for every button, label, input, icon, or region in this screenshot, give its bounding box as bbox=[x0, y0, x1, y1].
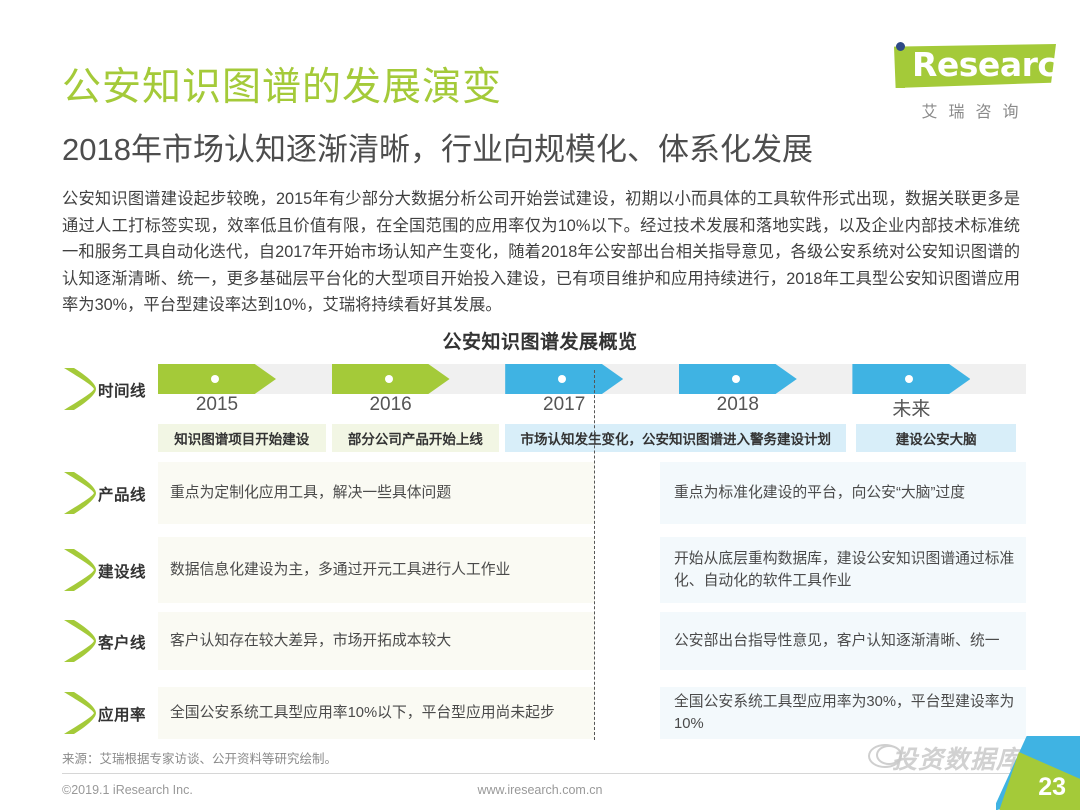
row-label-timeline: 时间线 bbox=[98, 379, 146, 401]
footer-divider bbox=[62, 773, 1018, 774]
row-cell-later-phase: 公安部出台指导性意见，客户认知逐渐清晰、统一 bbox=[660, 612, 1026, 670]
row-marker-chevron-icon bbox=[62, 547, 96, 593]
source-note: 来源：艾瑞根据专家访谈、公开资料等研究绘制。 bbox=[62, 748, 337, 767]
timeline-chevron[interactable] bbox=[852, 364, 970, 394]
logo-i-stem bbox=[896, 54, 905, 88]
timeline-year-label: 2016 bbox=[332, 394, 450, 420]
timeline-year-label: 未来 bbox=[852, 394, 970, 420]
body-paragraph: 公安知识图谱建设起步较晚，2015年有少部分大数据分析公司开始尝试建设，初期以小… bbox=[62, 186, 1020, 319]
timeline-marker-dot-icon bbox=[385, 375, 393, 383]
row-label-3: 客户线 bbox=[98, 631, 146, 653]
page-number: 23 bbox=[1038, 773, 1066, 802]
timeline-note: 市场认知发生变化，公安知识图谱进入警务建设计划 bbox=[505, 424, 846, 452]
page-subtitle: 2018年市场认知逐渐清晰，行业向规模化、体系化发展 bbox=[62, 124, 813, 169]
row-marker-chevron-icon bbox=[62, 690, 96, 736]
row-label-2: 建设线 bbox=[98, 560, 146, 582]
timeline-marker-dot-icon bbox=[905, 375, 913, 383]
timeline-note: 建设公安大脑 bbox=[856, 424, 1016, 452]
slide-page: Research 艾瑞咨询 公安知识图谱的发展演变 2018年市场认知逐渐清晰，… bbox=[0, 0, 1080, 810]
development-overview-chart: 时间线2015知识图谱项目开始建设2016部分公司产品开始上线2017市场认知发… bbox=[62, 362, 1026, 740]
logo-brand-cn: 艾瑞咨询 bbox=[853, 98, 1058, 122]
table-row: 全国公安系统工具型应用率10%以下，平台型应用尚未起步全国公安系统工具型应用率为… bbox=[158, 687, 1026, 739]
row-marker-chevron-icon bbox=[62, 366, 96, 412]
timeline-note: 部分公司产品开始上线 bbox=[332, 424, 500, 452]
row-cell-early-phase: 数据信息化建设为主，多通过开元工具进行人工作业 bbox=[158, 537, 595, 603]
row-marker-chevron-icon bbox=[62, 618, 96, 664]
timeline-marker-dot-icon bbox=[732, 375, 740, 383]
row-cell-early-phase: 重点为定制化应用工具，解决一些具体问题 bbox=[158, 462, 595, 524]
timeline-year-label: 2018 bbox=[679, 394, 797, 420]
timeline-year-label: 2015 bbox=[158, 394, 276, 420]
page-title: 公安知识图谱的发展演变 bbox=[62, 56, 502, 112]
timeline-year-label: 2017 bbox=[505, 394, 623, 420]
timeline-chevron[interactable] bbox=[332, 364, 450, 394]
timeline-note: 知识图谱项目开始建设 bbox=[158, 424, 326, 452]
row-cell-early-phase: 全国公安系统工具型应用率10%以下，平台型应用尚未起步 bbox=[158, 687, 595, 739]
table-row: 客户认知存在较大差异，市场开拓成本较大公安部出台指导性意见，客户认知逐渐清晰、统… bbox=[158, 612, 1026, 670]
row-label-4: 应用率 bbox=[98, 703, 146, 725]
row-cell-early-phase: 客户认知存在较大差异，市场开拓成本较大 bbox=[158, 612, 595, 670]
logo-mark: Research bbox=[862, 40, 1058, 92]
table-row: 重点为定制化应用工具，解决一些具体问题重点为标准化建设的平台，向公安“大脑”过度 bbox=[158, 462, 1026, 524]
row-cell-later-phase: 全国公安系统工具型应用率为30%，平台型建设率为10% bbox=[660, 687, 1026, 739]
phase-divider bbox=[594, 370, 595, 740]
logo-brand-text: Research bbox=[912, 47, 1079, 83]
logo-i-dot-icon bbox=[896, 42, 905, 51]
row-label-1: 产品线 bbox=[98, 483, 146, 505]
timeline-track bbox=[158, 364, 1026, 394]
row-cell-later-phase: 开始从底层重构数据库，建设公安知识图谱通过标准化、自动化的软件工具作业 bbox=[660, 537, 1026, 603]
row-marker-chevron-icon bbox=[62, 470, 96, 516]
table-row: 数据信息化建设为主，多通过开元工具进行人工作业开始从底层重构数据库，建设公安知识… bbox=[158, 537, 1026, 603]
iresearch-logo: Research 艾瑞咨询 bbox=[853, 40, 1058, 130]
website-url: www.iresearch.com.cn bbox=[0, 783, 1080, 797]
timeline-chevron[interactable] bbox=[158, 364, 276, 394]
timeline-chevron[interactable] bbox=[679, 364, 797, 394]
timeline-marker-dot-icon bbox=[211, 375, 219, 383]
timeline-marker-dot-icon bbox=[558, 375, 566, 383]
row-cell-later-phase: 重点为标准化建设的平台，向公安“大脑”过度 bbox=[660, 462, 1026, 524]
chart-title: 公安知识图谱发展概览 bbox=[0, 327, 1080, 354]
timeline-chevron[interactable] bbox=[505, 364, 623, 394]
